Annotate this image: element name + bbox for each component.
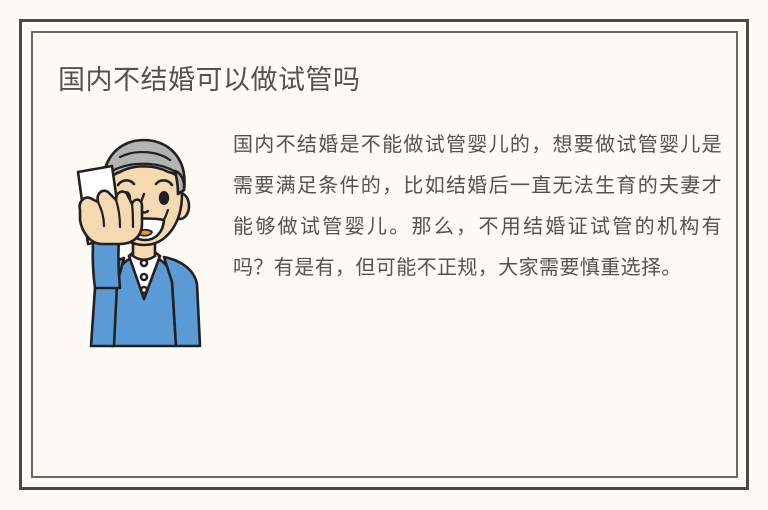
card-content: 国内不结婚可以做试管吗	[31, 31, 738, 478]
elderly-man-holding-phone-illustration	[76, 132, 212, 352]
page-title: 国内不结婚可以做试管吗	[58, 63, 361, 97]
article-body-text: 国内不结婚是不能做试管婴儿的，想要做试管婴儿是需要满足条件的，比如结婚后一直无法…	[233, 125, 722, 289]
article-card-page: 国内不结婚可以做试管吗	[0, 0, 768, 510]
